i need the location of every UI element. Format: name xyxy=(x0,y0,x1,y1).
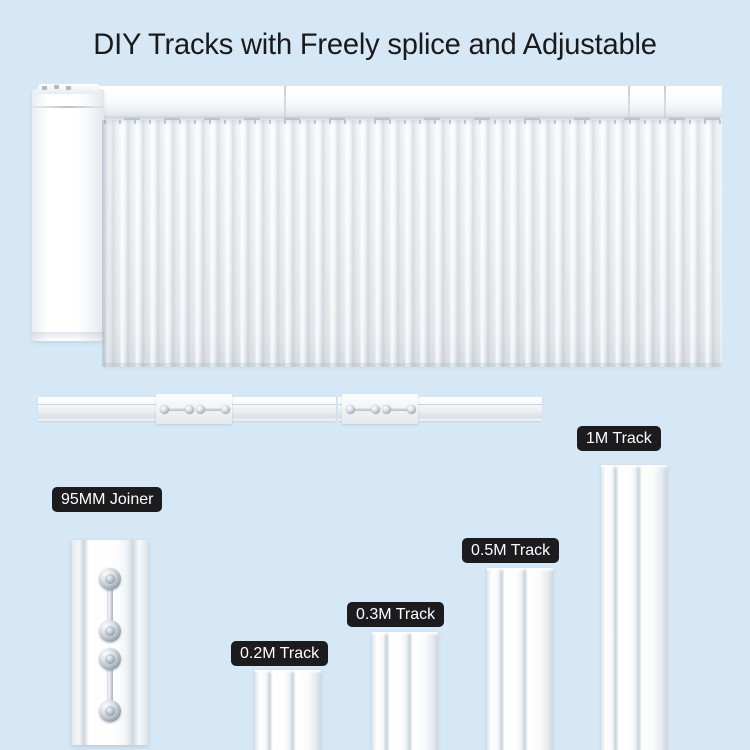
track-top-cap xyxy=(601,465,667,469)
joiner-screw xyxy=(99,648,121,670)
joiner-screw-pair xyxy=(99,648,121,722)
track-piece-02m xyxy=(255,670,321,750)
joiner-bar xyxy=(390,408,408,411)
motor-drop-shadow xyxy=(32,332,104,341)
track-piece-05m xyxy=(487,568,553,750)
track-joiner-plate xyxy=(342,394,418,424)
rail-seam xyxy=(664,86,666,118)
joiner-screw-pair xyxy=(99,568,121,642)
motor-end-housing xyxy=(32,89,104,341)
joiner-95mm-closeup xyxy=(72,540,148,745)
joiner-screw xyxy=(346,405,355,414)
joiner-screw xyxy=(371,405,380,414)
joiner-screw xyxy=(382,405,391,414)
rail-seam xyxy=(284,86,286,118)
joiner-screw-pair xyxy=(196,405,230,414)
joiner-screw-pair xyxy=(382,405,416,414)
motor-screw xyxy=(54,85,59,89)
track-top-cap xyxy=(372,632,438,636)
curtain-bottom-shadow xyxy=(104,363,722,371)
label-track-02m: 0.2M Track xyxy=(231,641,328,666)
joiner-screw xyxy=(221,405,230,414)
track-piece-03m xyxy=(372,632,438,750)
joiner-screw xyxy=(99,620,121,642)
joiner-screw xyxy=(99,568,121,590)
sheer-curtain-panel xyxy=(104,120,722,367)
joiner-screw xyxy=(99,700,121,722)
joiner-screw-pair xyxy=(160,405,194,414)
curtain-hook-row xyxy=(104,120,722,124)
motor-seam-line xyxy=(32,106,104,108)
label-track-03m: 0.3M Track xyxy=(347,602,444,627)
track-joiner-plate xyxy=(156,394,232,424)
joiner-screw xyxy=(185,405,194,414)
rail-seam xyxy=(628,86,630,118)
track-top-cap xyxy=(255,670,321,674)
rail-top-highlight xyxy=(88,86,722,91)
joiner-bar xyxy=(168,408,186,411)
motor-screw xyxy=(66,86,71,90)
joiner-bar xyxy=(354,408,372,411)
track-top-cap xyxy=(487,568,553,572)
label-track-05m: 0.5M Track xyxy=(462,538,559,563)
joiner-screw xyxy=(196,405,205,414)
infographic-canvas: DIY Tracks with Freely splice and Adjust… xyxy=(0,0,750,750)
joiner-bar xyxy=(204,408,222,411)
joiner-screw-pair xyxy=(346,405,380,414)
hero-product-photo xyxy=(28,70,722,370)
joiner-screw xyxy=(407,405,416,414)
page-title: DIY Tracks with Freely splice and Adjust… xyxy=(11,26,739,64)
label-track-1m: 1M Track xyxy=(577,426,661,451)
motor-screw xyxy=(42,86,47,90)
track-piece-1m xyxy=(601,465,667,750)
joiner-screw xyxy=(160,405,169,414)
label-joiner-95mm: 95MM Joiner xyxy=(52,487,162,512)
spliced-track-assembly xyxy=(38,391,542,433)
curtain-left-edge-shade xyxy=(102,120,112,367)
